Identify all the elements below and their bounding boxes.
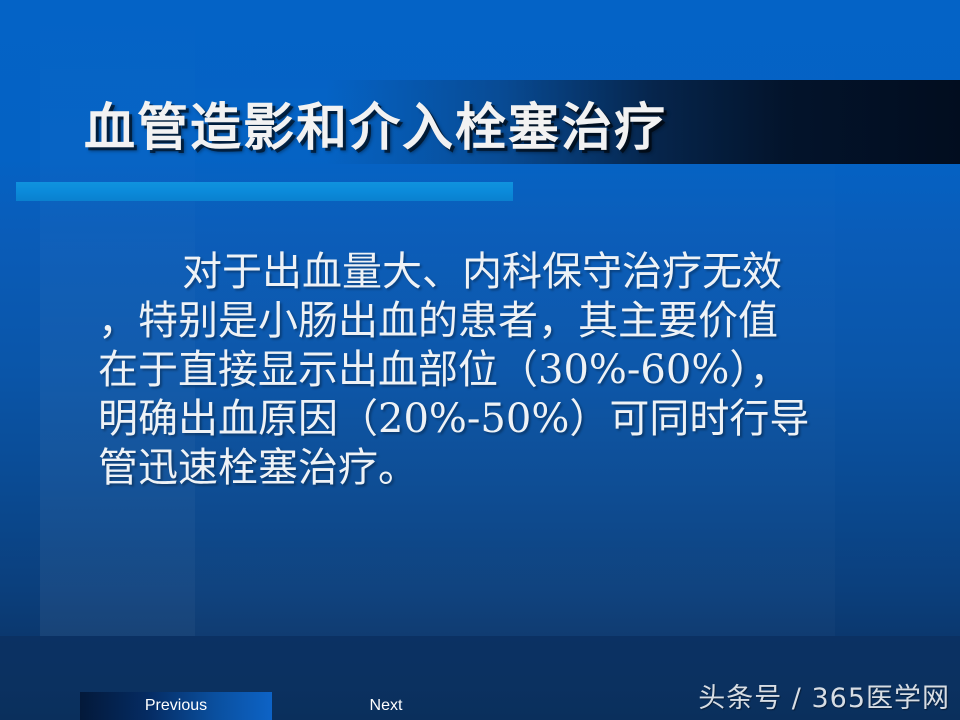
- body-line-1: 对于出血量大、内科保守治疗无效: [98, 248, 888, 297]
- title-accent-bar: [16, 182, 513, 201]
- body-line-3: 在于直接显示出血部位（30%-60%），: [98, 346, 888, 395]
- slide-body-text: 对于出血量大、内科保守治疗无效 ，特别是小肠出血的患者，其主要价值 在于直接显示…: [98, 248, 888, 493]
- watermark-label: 头条号 / 365医学网: [698, 676, 950, 715]
- next-slide-button[interactable]: Next: [300, 692, 472, 720]
- previous-slide-button[interactable]: Previous: [80, 692, 272, 720]
- body-line-5: 管迅速栓塞治疗。: [98, 444, 888, 493]
- presentation-slide: 血管造影和介入栓塞治疗 对于出血量大、内科保守治疗无效 ，特别是小肠出血的患者，…: [0, 0, 960, 720]
- body-line-2: ，特别是小肠出血的患者，其主要价值: [98, 297, 888, 346]
- slide-title: 血管造影和介入栓塞治疗: [84, 83, 914, 163]
- body-line-4: 明确出血原因（20%-50%）可同时行导: [98, 395, 888, 444]
